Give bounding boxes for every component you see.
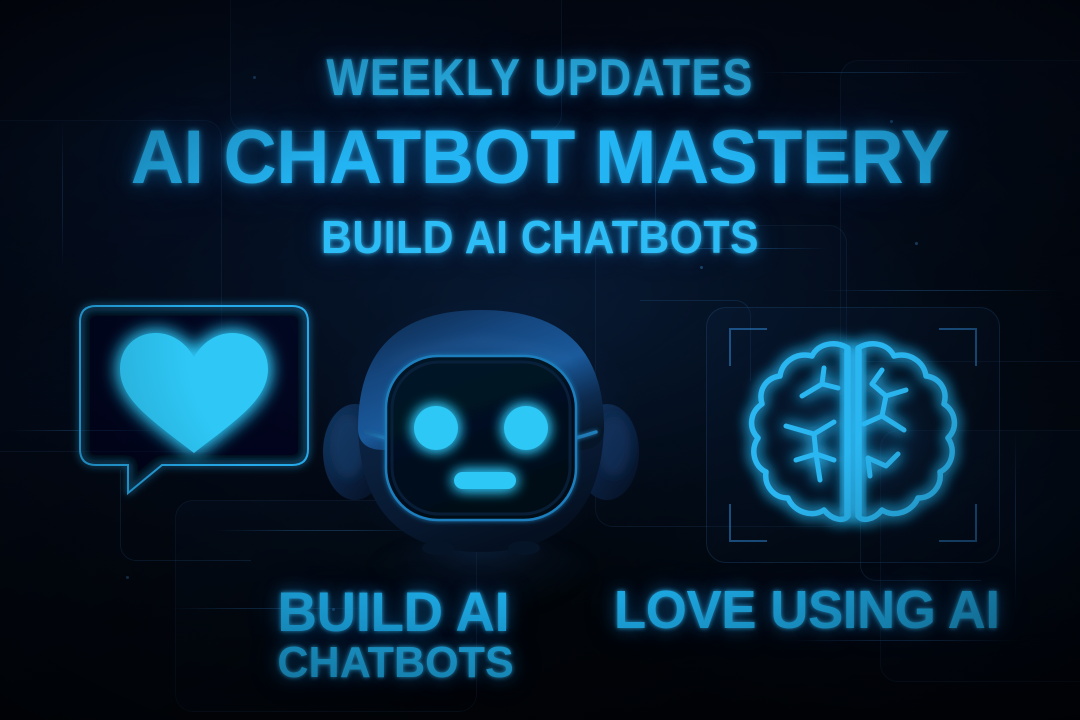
poster-canvas: WEEKLY UPDATES AI CHATBOT MASTERY BUILD … [0, 0, 1080, 720]
vignette-overlay [0, 0, 1080, 720]
